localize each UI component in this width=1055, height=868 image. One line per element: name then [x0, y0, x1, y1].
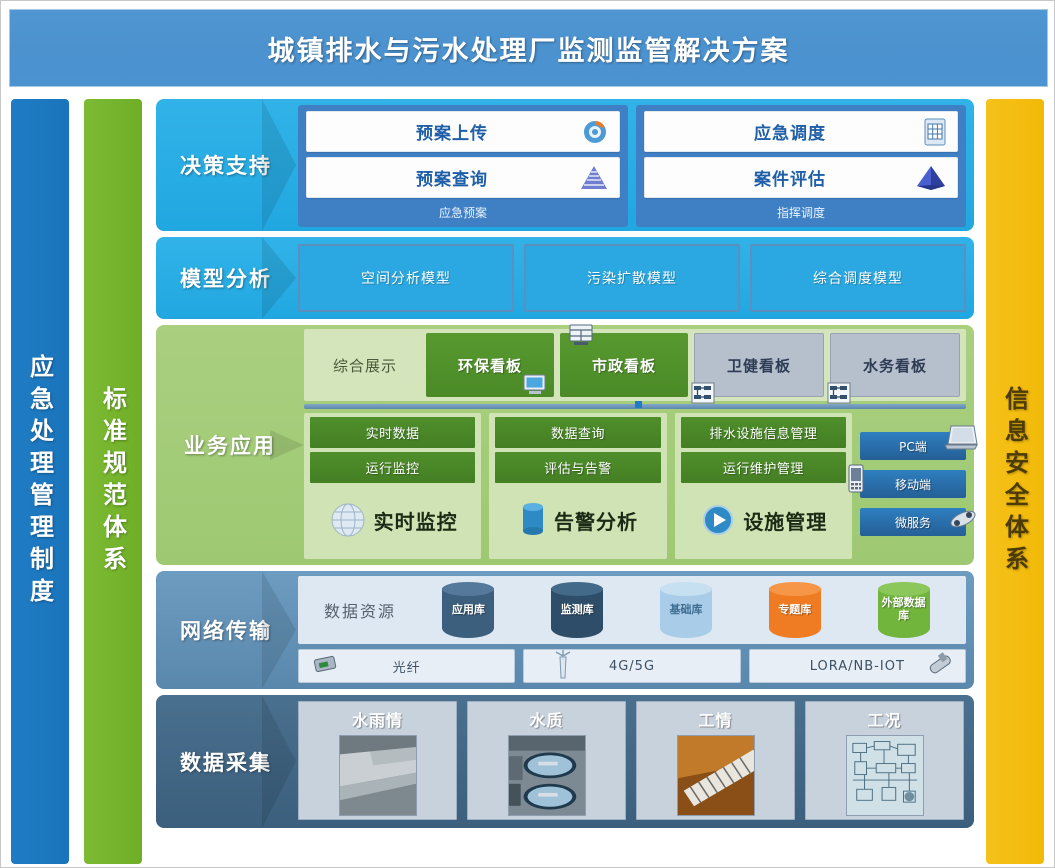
data-card-water-quality-title: 水质	[471, 705, 622, 735]
device-buttons: PC端 移动端	[860, 413, 966, 559]
chip-drainage-facility-info[interactable]: 排水设施信息管理	[681, 417, 846, 448]
layer-decision-support: 决策支持 预案上传	[156, 99, 974, 231]
layer-model-analysis: 模型分析 空间分析模型 污染扩散模型 综合调度模型	[156, 237, 974, 319]
arrow-shape	[270, 430, 304, 460]
layer-business-application-label-wrap: 业务应用	[156, 325, 304, 565]
database-external[interactable]: 外部数据库	[851, 582, 956, 638]
layer-network-transmission: 网络传输 数据资源 应用库	[156, 571, 974, 689]
layer-model-analysis-label: 模型分析	[180, 263, 272, 293]
service-icon	[948, 506, 978, 532]
database-app[interactable]: 应用库	[416, 582, 521, 638]
network-body: 数据资源 应用库 监测库	[296, 571, 974, 689]
architecture-diagram: 城镇排水与污水处理厂监测监管解决方案 应急处理管理制度 标准规范体系 信息安全体…	[0, 0, 1055, 868]
board-environment[interactable]: 环保看板	[426, 333, 554, 397]
link-cellular[interactable]: 4G/5G	[523, 649, 740, 683]
board-environment-label: 环保看板	[458, 355, 522, 376]
card-emergency-dispatch[interactable]: 应急调度	[644, 111, 958, 152]
card-emergency-dispatch-label: 应急调度	[645, 119, 957, 144]
arrow-shape	[262, 237, 296, 319]
device-button-microservice-label: 微服务	[895, 514, 931, 531]
link-fiber[interactable]: 光纤	[298, 649, 515, 683]
layer-decision-support-label: 决策支持	[180, 150, 272, 180]
layer-decision-support-label-wrap: 决策支持	[156, 99, 296, 231]
link-lora-label: LORA/NB-IOT	[810, 659, 905, 674]
link-lora[interactable]: LORA/NB-IOT	[749, 649, 966, 683]
board-health-label: 卫健看板	[727, 355, 791, 376]
database-app-label: 应用库	[452, 604, 485, 617]
mobile-icon	[846, 464, 866, 494]
pillar-emergency-management-label: 应急处理管理制度	[23, 354, 58, 610]
canal-photo	[339, 735, 417, 816]
divider-dot	[635, 401, 642, 408]
group-command-dispatch-label: 指挥调度	[644, 203, 958, 224]
data-resources-label: 数据资源	[308, 598, 412, 622]
pillar-emergency-management: 应急处理管理制度	[11, 99, 69, 864]
database-icon	[518, 501, 548, 539]
cylinder-top	[660, 582, 712, 596]
database-basic-label: 基础库	[669, 604, 702, 617]
globe-icon	[328, 500, 368, 540]
card-plan-query[interactable]: 预案查询	[306, 157, 620, 198]
business-column-alarm: 数据查询 评估与告警 告警分析	[489, 413, 666, 559]
decision-groups: 预案上传 预案查询	[296, 99, 974, 231]
page-title-bar: 城镇排水与污水处理厂监测监管解决方案	[9, 9, 1048, 87]
pipeline-photo	[677, 735, 755, 816]
pyramid-icon	[579, 165, 609, 191]
link-fiber-label: 光纤	[393, 657, 421, 676]
business-column-facility: 排水设施信息管理 运行维护管理 设施管理	[675, 413, 852, 559]
chip-data-query[interactable]: 数据查询	[495, 417, 660, 448]
antenna-icon	[552, 650, 574, 682]
business-columns: 实时数据 运行监控 实时监控	[304, 413, 966, 559]
laptop-icon	[944, 424, 978, 452]
database-basic[interactable]: 基础库	[634, 582, 739, 638]
card-plan-upload-label: 预案上传	[307, 119, 619, 144]
big-alarm-analysis[interactable]: 告警分析	[495, 487, 660, 553]
layer-data-collection: 数据采集 水雨情	[156, 695, 974, 828]
data-resources-row: 数据资源 应用库 监测库	[298, 576, 966, 644]
board-water-affairs[interactable]: 水务看板	[830, 333, 960, 397]
network-links: 光纤 4G/5G	[298, 649, 966, 683]
model-cards: 空间分析模型 污染扩散模型 综合调度模型	[296, 237, 974, 319]
board-municipal-label: 市政看板	[592, 355, 656, 376]
layer-data-collection-label: 数据采集	[180, 747, 272, 777]
business-column-monitoring: 实时数据 运行监控 实时监控	[304, 413, 481, 559]
database-external-label: 外部数据库	[878, 597, 930, 622]
pillar-standards-system-label: 标准规范体系	[96, 386, 131, 578]
board-water-affairs-label: 水务看板	[863, 355, 927, 376]
layer-network-transmission-label-wrap: 网络传输	[156, 571, 296, 689]
business-divider	[304, 404, 966, 409]
data-card-water-quality[interactable]: 水质	[467, 701, 626, 820]
card-plan-upload[interactable]: 预案上传	[306, 111, 620, 152]
chip-assessment-alarm[interactable]: 评估与告警	[495, 452, 660, 483]
arrow-shape	[262, 695, 296, 828]
board-municipal[interactable]: 市政看板	[560, 333, 688, 397]
cylinder-top	[769, 582, 821, 596]
data-card-hydrology-title: 水雨情	[302, 705, 453, 735]
data-collection-cards: 水雨情 水质	[296, 695, 974, 828]
database-monitor[interactable]: 监测库	[525, 582, 630, 638]
data-card-working-condition-title: 工况	[809, 705, 960, 735]
big-alarm-analysis-label: 告警分析	[554, 506, 638, 535]
card-plan-query-label: 预案查询	[307, 165, 619, 190]
data-card-engineering-title: 工情	[640, 705, 791, 735]
arrow-shape	[262, 571, 296, 689]
sensor-icon	[923, 650, 957, 680]
chip-operation-monitor[interactable]: 运行监控	[310, 452, 475, 483]
window-icon	[568, 323, 594, 347]
biz-label-inner: 业务应用	[156, 430, 304, 460]
chip-realtime-data[interactable]: 实时数据	[310, 417, 475, 448]
layer-data-collection-label-wrap: 数据采集	[156, 695, 296, 828]
layer-network-transmission-label: 网络传输	[180, 615, 272, 645]
fiber-icon	[311, 653, 341, 675]
device-button-microservice[interactable]: 微服务	[860, 508, 966, 536]
device-button-mobile-label: 移动端	[895, 476, 931, 493]
big-facility-management[interactable]: 设施管理	[681, 487, 846, 553]
layer-stack: 决策支持 预案上传	[156, 99, 974, 864]
treatment-plant-photo	[508, 735, 586, 816]
database-monitor-label: 监测库	[561, 604, 594, 617]
data-card-working-condition[interactable]: 工况	[805, 701, 964, 820]
play-circle-icon	[699, 501, 737, 539]
group-emergency-plan: 预案上传 预案查询	[298, 105, 628, 227]
comprehensive-display-label: 综合展示	[310, 355, 420, 376]
cylinder-top	[442, 582, 494, 596]
schematic-photo	[846, 735, 924, 816]
cylinder-top	[551, 582, 603, 596]
group-emergency-plan-label: 应急预案	[306, 203, 620, 224]
comprehensive-display-row: 综合展示 环保看板 市政看板	[304, 329, 966, 401]
network-icon	[691, 382, 715, 404]
model-card-spatial[interactable]: 空间分析模型	[298, 244, 514, 312]
big-facility-management-label: 设施管理	[743, 506, 827, 535]
chip-operation-maintenance[interactable]: 运行维护管理	[681, 452, 846, 483]
board-health[interactable]: 卫健看板	[694, 333, 824, 397]
database-topic[interactable]: 专题库	[742, 582, 847, 638]
big-realtime-monitoring-label: 实时监控	[374, 506, 458, 535]
database-topic-label: 专题库	[778, 604, 811, 617]
monitor-icon	[522, 373, 548, 395]
device-button-mobile[interactable]: 移动端	[860, 470, 966, 498]
refresh-circle-icon	[581, 118, 609, 146]
grid-table-icon	[923, 118, 947, 146]
device-button-pc[interactable]: PC端	[860, 432, 966, 460]
data-card-hydrology[interactable]: 水雨情	[298, 701, 457, 820]
model-card-dispatch[interactable]: 综合调度模型	[750, 244, 966, 312]
data-card-engineering[interactable]: 工情	[636, 701, 795, 820]
network-icon	[827, 382, 851, 404]
device-button-pc-label: PC端	[899, 438, 927, 455]
page-title: 城镇排水与污水处理厂监测监管解决方案	[268, 29, 790, 68]
pillar-information-security: 信息安全体系	[986, 99, 1044, 864]
card-case-assessment[interactable]: 案件评估	[644, 157, 958, 198]
group-command-dispatch: 应急调度	[636, 105, 966, 227]
arrow-shape	[262, 99, 296, 231]
card-case-assessment-label: 案件评估	[645, 165, 957, 190]
link-cellular-label: 4G/5G	[609, 659, 655, 674]
cylinder-top	[878, 582, 930, 596]
model-card-pollution[interactable]: 污染扩散模型	[524, 244, 740, 312]
pillar-information-security-label: 信息安全体系	[998, 386, 1033, 578]
layer-business-application-label: 业务应用	[184, 430, 276, 460]
pyramid-3d-icon	[915, 164, 947, 192]
big-realtime-monitoring[interactable]: 实时监控	[310, 487, 475, 553]
pillar-standards-system: 标准规范体系	[84, 99, 142, 864]
layer-business-application: 业务应用 综合展示 环保看板	[156, 325, 974, 565]
layer-model-analysis-label-wrap: 模型分析	[156, 237, 296, 319]
